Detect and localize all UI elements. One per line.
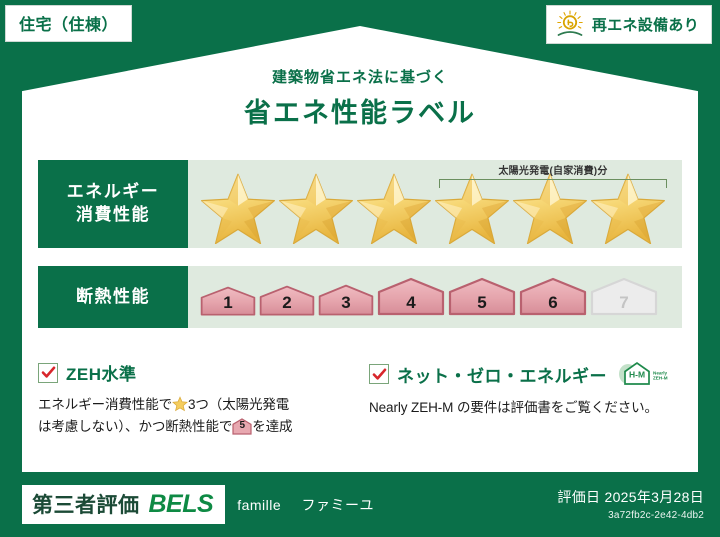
claim-zeh-standard: ZEH水準 エネルギー消費性能で3つ（太陽光発電 は考慮しない）、かつ断熱性能で…	[38, 360, 353, 438]
claim-zeh-text-2: は考慮しない）、かつ断熱性能で	[38, 419, 232, 434]
claim-nze-header: ネット・ゼロ・エネルギー H-M Nearly ZEH-M	[369, 360, 684, 388]
brand-name: famille ファミーユ	[237, 495, 374, 515]
claim-zeh-title: ZEH水準	[66, 360, 137, 385]
insulation-level-2: 2	[259, 285, 315, 317]
bels-logo: 第三者評価 BELS	[22, 485, 225, 524]
star-icon	[434, 172, 510, 244]
bels-energy-label: 住宅（住棟） 再エ	[0, 0, 720, 537]
evaluation-id: 3a72fb2c-2e42-4db2	[557, 510, 704, 521]
zeh-m-house-logo: H-M Nearly ZEH-M	[617, 360, 669, 388]
insulation-level-value: 3	[341, 294, 350, 315]
claim-zeh-text-1: エネルギー消費性能で	[38, 397, 172, 412]
claim-zeh-star-count: 3つ（太陽光発電	[188, 397, 289, 412]
footer-right: 評価日 2025年3月28日 3a72fb2c-2e42-4db2	[557, 487, 704, 521]
bels-jp-label: 第三者評価	[32, 489, 140, 519]
insulation-level-4: 4	[377, 277, 445, 317]
insulation-performance-label: 断熱性能	[38, 266, 188, 328]
claim-zeh-header: ZEH水準	[38, 360, 353, 385]
category-badge-label: 住宅（住棟）	[19, 17, 118, 34]
svg-text:H-M: H-M	[629, 370, 645, 380]
star-icon	[200, 172, 276, 244]
insulation-level-3: 3	[318, 284, 374, 317]
insulation-level-5: 5	[448, 277, 516, 317]
claim-zeh-text-3: を達成	[252, 419, 292, 434]
title-main: 省エネ性能ラベル	[0, 91, 720, 130]
footer-left: 第三者評価 BELS famille ファミーユ	[22, 485, 374, 524]
brand-name-en: famille	[237, 497, 281, 513]
sun-solar-icon	[555, 10, 585, 38]
inline-house-value: 5	[232, 418, 252, 435]
insulation-performance-row: 断熱性能 1234567	[38, 266, 682, 328]
title-block: 建築物省エネ法に基づく 省エネ性能ラベル	[0, 66, 720, 130]
energy-label-line2: 消費性能	[76, 204, 150, 227]
insulation-level-value: 5	[477, 294, 486, 315]
insulation-performance-value: 1234567	[188, 266, 682, 328]
energy-performance-label: エネルギー 消費性能	[38, 160, 188, 248]
insulation-level-value: 7	[619, 294, 628, 315]
claim-nze-body: Nearly ZEH-M の要件は評価書をご覧ください。	[369, 397, 684, 419]
claim-zeh-body: エネルギー消費性能で3つ（太陽光発電 は考慮しない）、かつ断熱性能で5を達成	[38, 394, 353, 438]
star-icon	[512, 172, 588, 244]
insulation-level-scale: 1234567	[200, 277, 658, 317]
checkbox-checked-icon	[38, 363, 58, 383]
energy-label-line1: エネルギー	[67, 181, 160, 204]
insulation-level-1: 1	[200, 286, 256, 317]
claim-net-zero-energy: ネット・ゼロ・エネルギー H-M Nearly ZEH-M Nearly ZEH…	[369, 360, 684, 438]
checkbox-checked-icon	[369, 364, 389, 384]
energy-performance-row: エネルギー 消費性能	[38, 160, 682, 248]
insulation-level-value: 6	[548, 294, 557, 315]
insulation-level-value: 4	[406, 294, 415, 315]
renewable-equipment-badge: 再エネ設備あり	[546, 5, 712, 44]
energy-performance-value: 太陽光発電(自家消費)分	[188, 160, 682, 248]
insulation-label-line1: 断熱性能	[76, 286, 150, 309]
insulation-level-7: 7	[590, 277, 658, 317]
inline-star-icon	[172, 396, 188, 412]
bels-en-label: BELS	[149, 490, 214, 519]
insulation-level-6: 6	[519, 277, 587, 317]
category-badge: 住宅（住棟）	[5, 5, 132, 42]
insulation-level-value: 1	[223, 294, 232, 315]
claims-section: ZEH水準 エネルギー消費性能で3つ（太陽光発電 は考慮しない）、かつ断熱性能で…	[38, 360, 686, 438]
star-icon	[278, 172, 354, 244]
star-icon	[590, 172, 666, 244]
title-subtitle: 建築物省エネ法に基づく	[0, 66, 720, 87]
inline-house-badge: 5	[232, 418, 252, 435]
footer: 第三者評価 BELS famille ファミーユ 評価日 2025年3月28日 …	[0, 475, 720, 537]
star-rating	[200, 172, 666, 244]
star-icon	[356, 172, 432, 244]
evaluation-date: 評価日 2025年3月28日	[557, 487, 704, 507]
renewable-badge-label: 再エネ設備あり	[592, 14, 699, 35]
insulation-level-value: 2	[282, 294, 291, 315]
claim-nze-title: ネット・ゼロ・エネルギー	[397, 362, 607, 387]
svg-text:ZEH-M: ZEH-M	[653, 376, 668, 381]
brand-name-jp: ファミーユ	[302, 497, 375, 513]
